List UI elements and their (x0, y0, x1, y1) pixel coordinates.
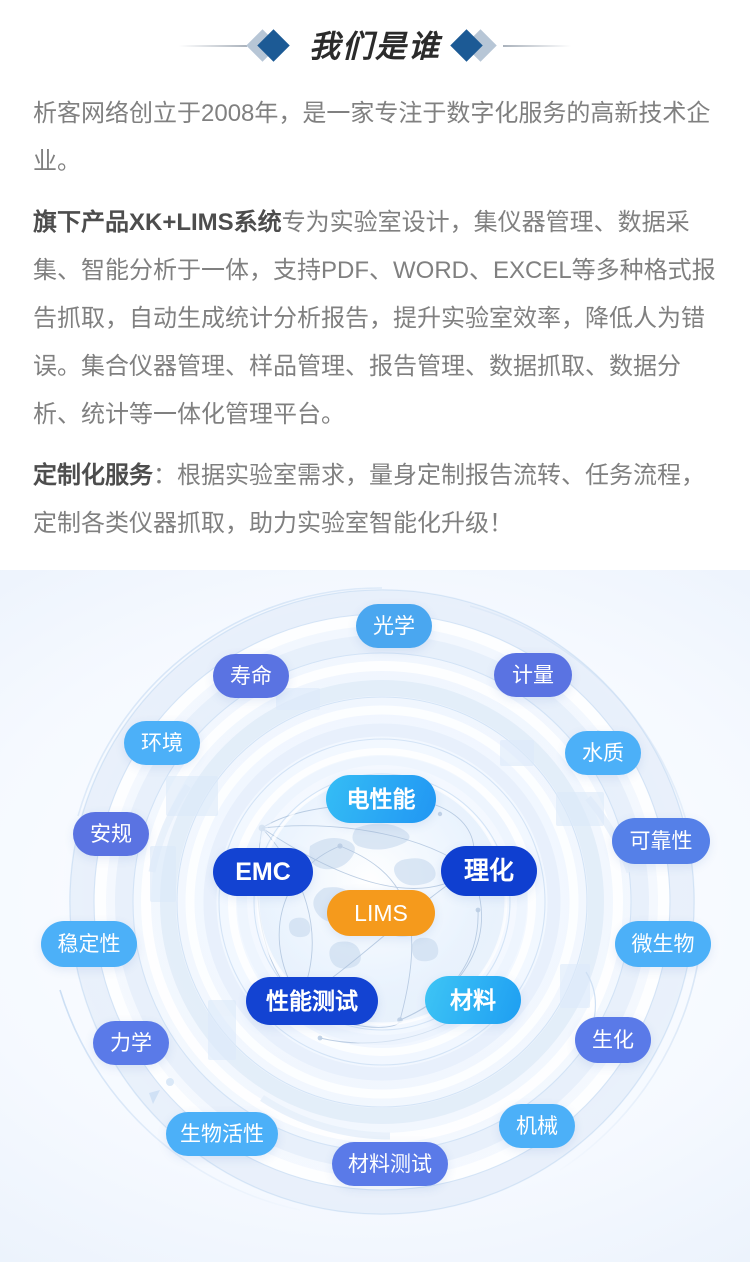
capability-tag-label: LIMS (354, 902, 408, 925)
capability-tag-label: 生物活性 (180, 1124, 264, 1145)
capability-tag-label: 稳定性 (58, 934, 121, 955)
capability-tag-label: 水质 (582, 743, 624, 764)
capability-tag-label: EMC (235, 860, 291, 885)
paragraph-intro: 析客网络创立于2008年，是一家专注于数字化服务的高新技术企业。 (33, 90, 717, 186)
section-header: 我们是谁 (0, 0, 750, 92)
capability-tag-label: 材料测试 (348, 1154, 432, 1175)
header-rule-left (179, 45, 247, 47)
section-capability-cloud: 光学寿命计量环境水质安规电性能可靠性EMC理化LIMS稳定性微生物性能测试材料力… (0, 570, 750, 1262)
capability-tag[interactable]: 可靠性 (612, 818, 710, 864)
capability-tag-label: 机械 (516, 1116, 558, 1137)
capability-tag[interactable]: EMC (213, 848, 313, 896)
capability-tag[interactable]: 性能测试 (246, 977, 378, 1025)
capability-tag[interactable]: 生化 (575, 1017, 651, 1063)
paragraph-lead-bold: 旗下产品XK+LIMS系统 (33, 209, 282, 236)
capability-tag[interactable]: 材料测试 (332, 1142, 448, 1186)
page-root: 我们是谁 析客网络创立于2008年，是一家专注于数字化服务的高新技术企业。 旗下… (0, 0, 750, 1262)
capability-tag-label: 安规 (90, 824, 132, 845)
capability-tag[interactable]: 稳定性 (41, 921, 137, 967)
capability-tag[interactable]: 理化 (441, 846, 537, 896)
capability-tag[interactable]: 力学 (93, 1021, 169, 1065)
capability-tag[interactable]: 生物活性 (166, 1112, 278, 1156)
capability-tag[interactable]: 安规 (73, 812, 149, 856)
page-title: 我们是谁 (303, 31, 447, 62)
capability-tag[interactable]: 材料 (425, 976, 521, 1024)
capability-tag-label: 微生物 (632, 934, 695, 955)
capability-tag-label: 光学 (373, 616, 415, 637)
capability-tag-label: 可靠性 (630, 831, 693, 852)
capability-tag-label: 计量 (512, 665, 554, 686)
diamond-pair-icon-left (247, 29, 303, 63)
capability-tag-label: 寿命 (230, 666, 272, 687)
diamond-pair-icon-right (447, 29, 503, 63)
capability-tag[interactable]: 机械 (499, 1104, 575, 1148)
capability-tag-label: 电性能 (347, 788, 416, 811)
paragraph-text: 析客网络创立于2008年，是一家专注于数字化服务的高新技术企业。 (33, 100, 710, 175)
capability-tag-label: 环境 (141, 733, 183, 754)
capability-tag-label: 力学 (110, 1033, 152, 1054)
header-rule-right (503, 45, 571, 47)
paragraph-custom-service: 定制化服务：根据实验室需求，量身定制报告流转、任务流程，定制各类仪器抓取，助力实… (33, 452, 717, 548)
paragraph-lead-bold: 定制化服务 (33, 462, 153, 489)
section-about-text: 析客网络创立于2008年，是一家专注于数字化服务的高新技术企业。 旗下产品XK+… (0, 90, 750, 548)
capability-tag[interactable]: 微生物 (615, 921, 711, 967)
capability-tag-label: 理化 (464, 859, 514, 884)
capability-tag-label: 性能测试 (266, 990, 358, 1013)
paragraph-product: 旗下产品XK+LIMS系统专为实验室设计，集仪器管理、数据采集、智能分析于一体，… (33, 199, 717, 439)
capability-tag[interactable]: 计量 (494, 653, 572, 697)
capability-tag[interactable]: 寿命 (213, 654, 289, 698)
capability-tag[interactable]: 电性能 (326, 775, 436, 823)
capability-tag-label: 生化 (592, 1030, 634, 1051)
capability-tag[interactable]: 水质 (565, 731, 641, 775)
capability-tag[interactable]: LIMS (327, 890, 435, 936)
capability-tag[interactable]: 光学 (356, 604, 432, 648)
capability-tag-label: 材料 (450, 989, 496, 1012)
capability-tag[interactable]: 环境 (124, 721, 200, 765)
paragraph-text: 专为实验室设计，集仪器管理、数据采集、智能分析于一体，支持PDF、WORD、EX… (33, 209, 716, 428)
